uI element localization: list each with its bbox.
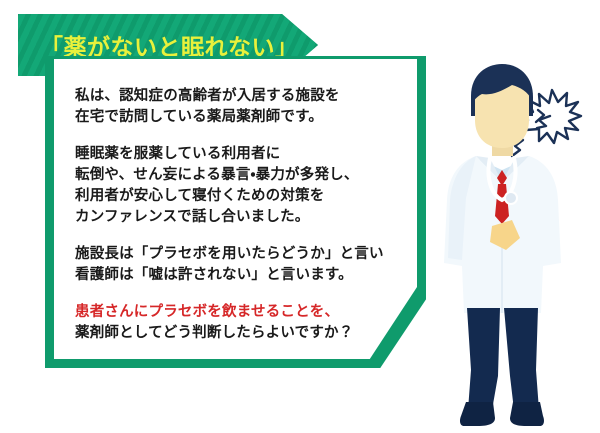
body-copy: 私は、認知症の高齢者が入居する施設を 在宅で訪問している薬局薬剤師です。 睡眠薬… (75, 86, 405, 344)
slide-root: 「薬がないと眠れない」 私は、認知症の高齢者が入居する施設を 在宅で訪問している… (0, 0, 600, 433)
text-line: 在宅で訪問している薬局薬剤師です。 (75, 107, 405, 128)
paragraph-opinions: 施設長は「プラセボを用いたらどうか」と言い 看護師は「嘘は許されない」と言います… (75, 244, 405, 286)
text-line: 私は、認知症の高齢者が入居する施設を (75, 86, 405, 107)
shoe-right (510, 402, 544, 426)
paragraph-situation: 睡眠薬を服薬している利用者に 転倒や、せん妄による暴言・暴力が多発し、 利用者が… (75, 144, 405, 228)
pharmacist-illustration (440, 58, 590, 433)
text-line: 転倒や、せん妄による暴言・暴力が多発し、 (75, 165, 405, 186)
stethoscope-bell (505, 192, 517, 204)
paragraph-intro: 私は、認知症の高齢者が入居する施設を 在宅で訪問している薬局薬剤師です。 (75, 86, 405, 128)
text-line: 看護師は「嘘は許されない」と言います。 (75, 265, 405, 286)
text-line-highlight: 患者さんにプラセボを飲ませることを、 (75, 302, 405, 323)
text-line: 施設長は「プラセボを用いたらどうか」と言い (75, 244, 405, 265)
paragraph-question: 患者さんにプラセボを飲ませることを、 薬剤師としてどう判断したらよいですか？ (75, 302, 405, 344)
text-line: 薬剤師としてどう判断したらよいですか？ (75, 323, 405, 344)
text-line: 睡眠薬を服薬している利用者に (75, 144, 405, 165)
trousers-left (467, 308, 500, 410)
shoe-left (460, 402, 495, 426)
trousers-right (504, 308, 539, 410)
text-line: 利用者が安心して寝付くための対策を (75, 186, 405, 207)
text-line: カンファレンスで話し合いました。 (75, 207, 405, 228)
